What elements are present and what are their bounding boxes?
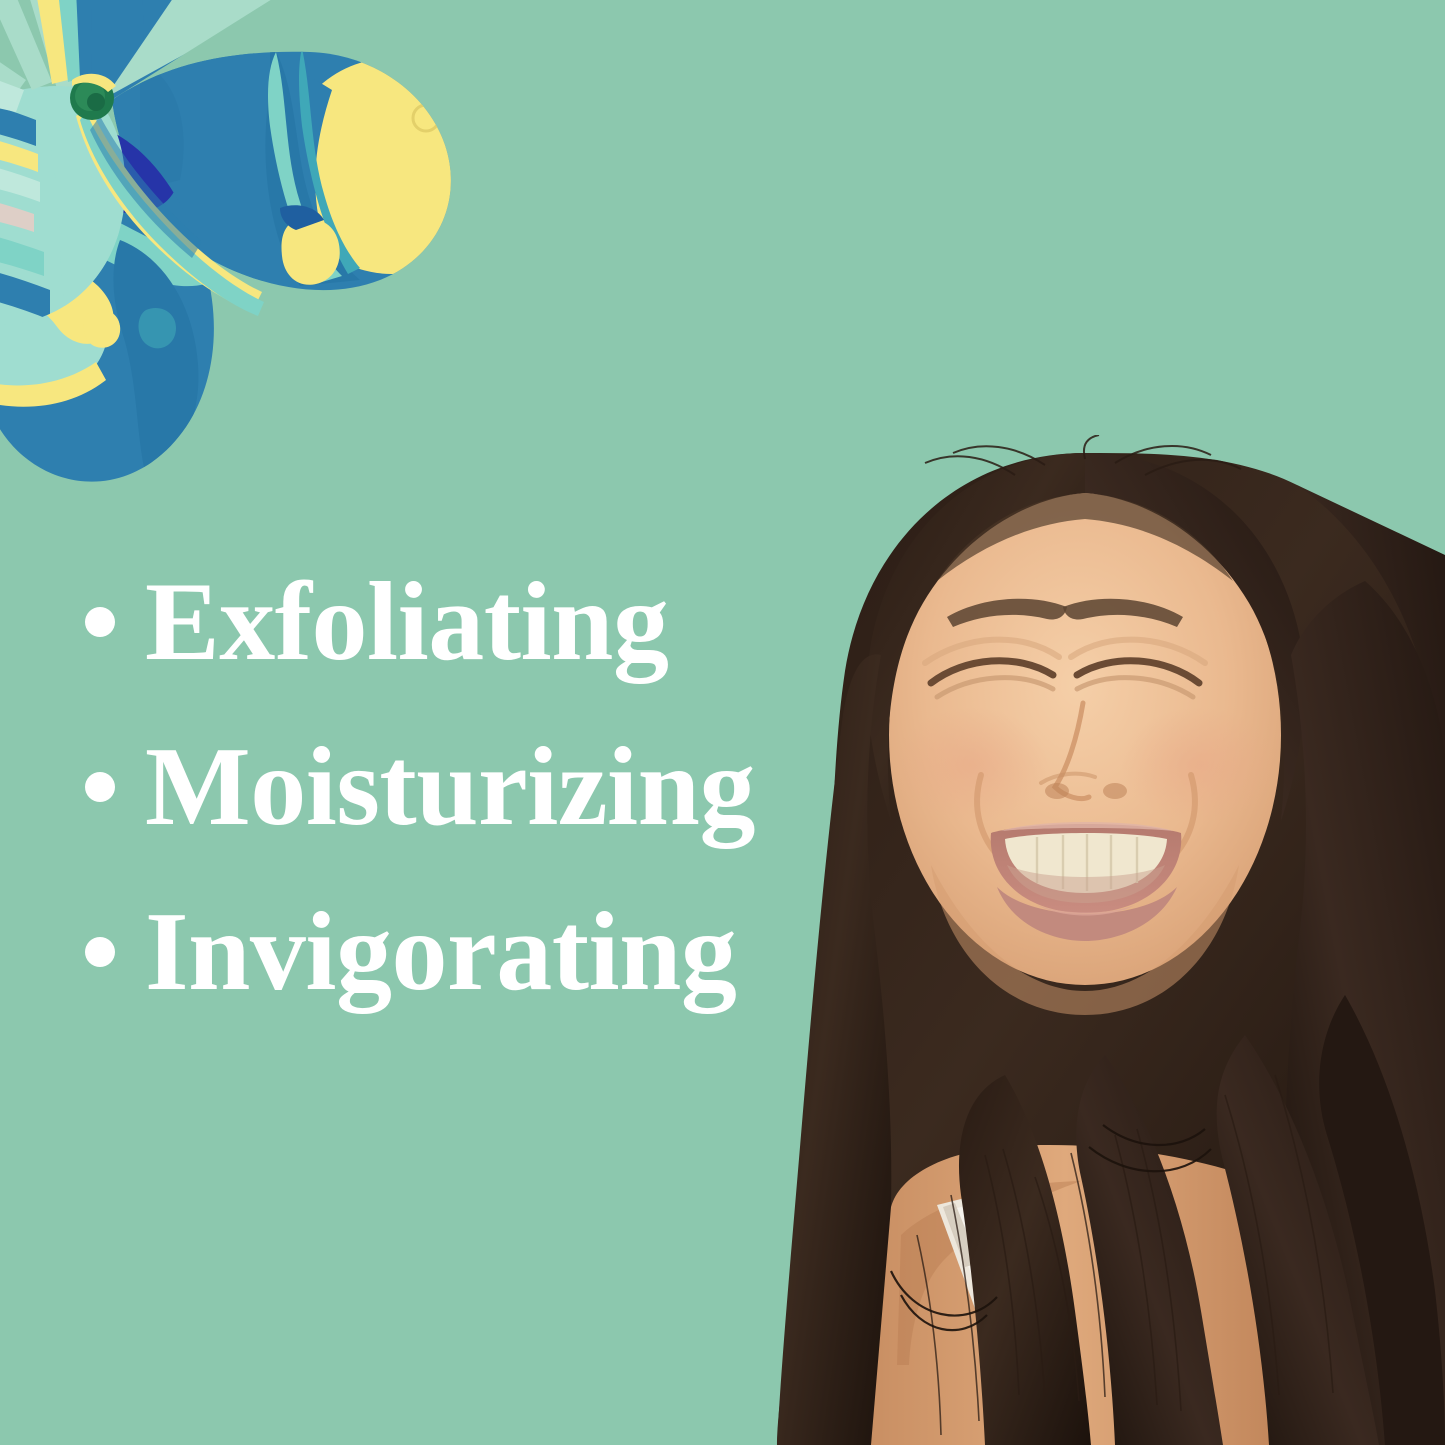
smiling-woman-portrait bbox=[685, 435, 1445, 1445]
benefit-label: Moisturizing bbox=[145, 731, 755, 843]
painted-flower-graphic bbox=[0, 0, 540, 500]
bullet-dot-icon bbox=[85, 937, 115, 967]
list-item: Moisturizing bbox=[0, 731, 755, 843]
bullet-dot-icon bbox=[85, 772, 115, 802]
benefit-label: Exfoliating bbox=[145, 566, 668, 678]
product-benefits-banner: Exfoliating Moisturizing Invigorating bbox=[0, 0, 1445, 1445]
list-item: Invigorating bbox=[0, 896, 736, 1008]
list-item: Exfoliating bbox=[0, 566, 668, 678]
bullet-dot-icon bbox=[85, 607, 115, 637]
benefit-label: Invigorating bbox=[145, 896, 736, 1008]
